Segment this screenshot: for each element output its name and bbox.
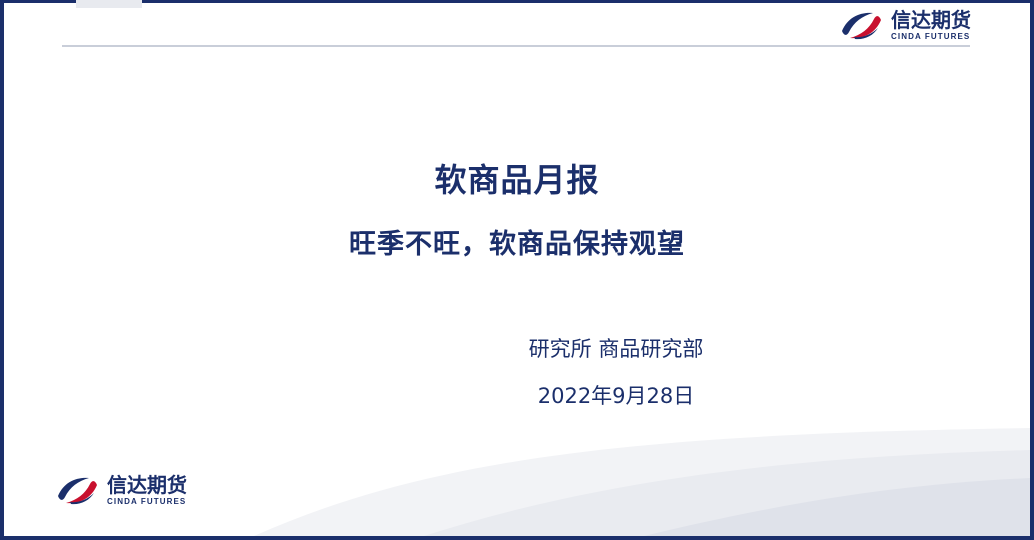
frame-border-right xyxy=(1030,0,1034,540)
brand-logo-footer: 信达期货 CINDA FUTURES xyxy=(56,475,187,506)
page-title: 软商品月报 xyxy=(0,155,1034,201)
cinda-logo-icon xyxy=(840,11,884,41)
brand-name-cn: 信达期货 xyxy=(107,475,187,495)
byline-department: 研究所 商品研究部 xyxy=(0,333,1034,363)
cinda-logo-icon xyxy=(56,476,100,506)
frame-border-bottom xyxy=(0,536,1034,540)
brand-name-cn: 信达期货 xyxy=(891,10,971,30)
brand-logo-header: 信达期货 CINDA FUTURES xyxy=(840,10,971,41)
brand-name-en: CINDA FUTURES xyxy=(891,33,971,41)
slide: 信达期货 CINDA FUTURES 软商品月报 旺季不旺，软商品保持观望 研究… xyxy=(0,0,1034,540)
brand-logo-text: 信达期货 CINDA FUTURES xyxy=(107,475,187,506)
brand-logo-text: 信达期货 CINDA FUTURES xyxy=(891,10,971,41)
brand-name-en: CINDA FUTURES xyxy=(107,498,187,506)
page-subtitle: 旺季不旺，软商品保持观望 xyxy=(0,222,1034,261)
header-tab-block xyxy=(76,0,142,8)
header-divider xyxy=(62,45,970,47)
byline-date: 2022年9月28日 xyxy=(0,380,1034,410)
